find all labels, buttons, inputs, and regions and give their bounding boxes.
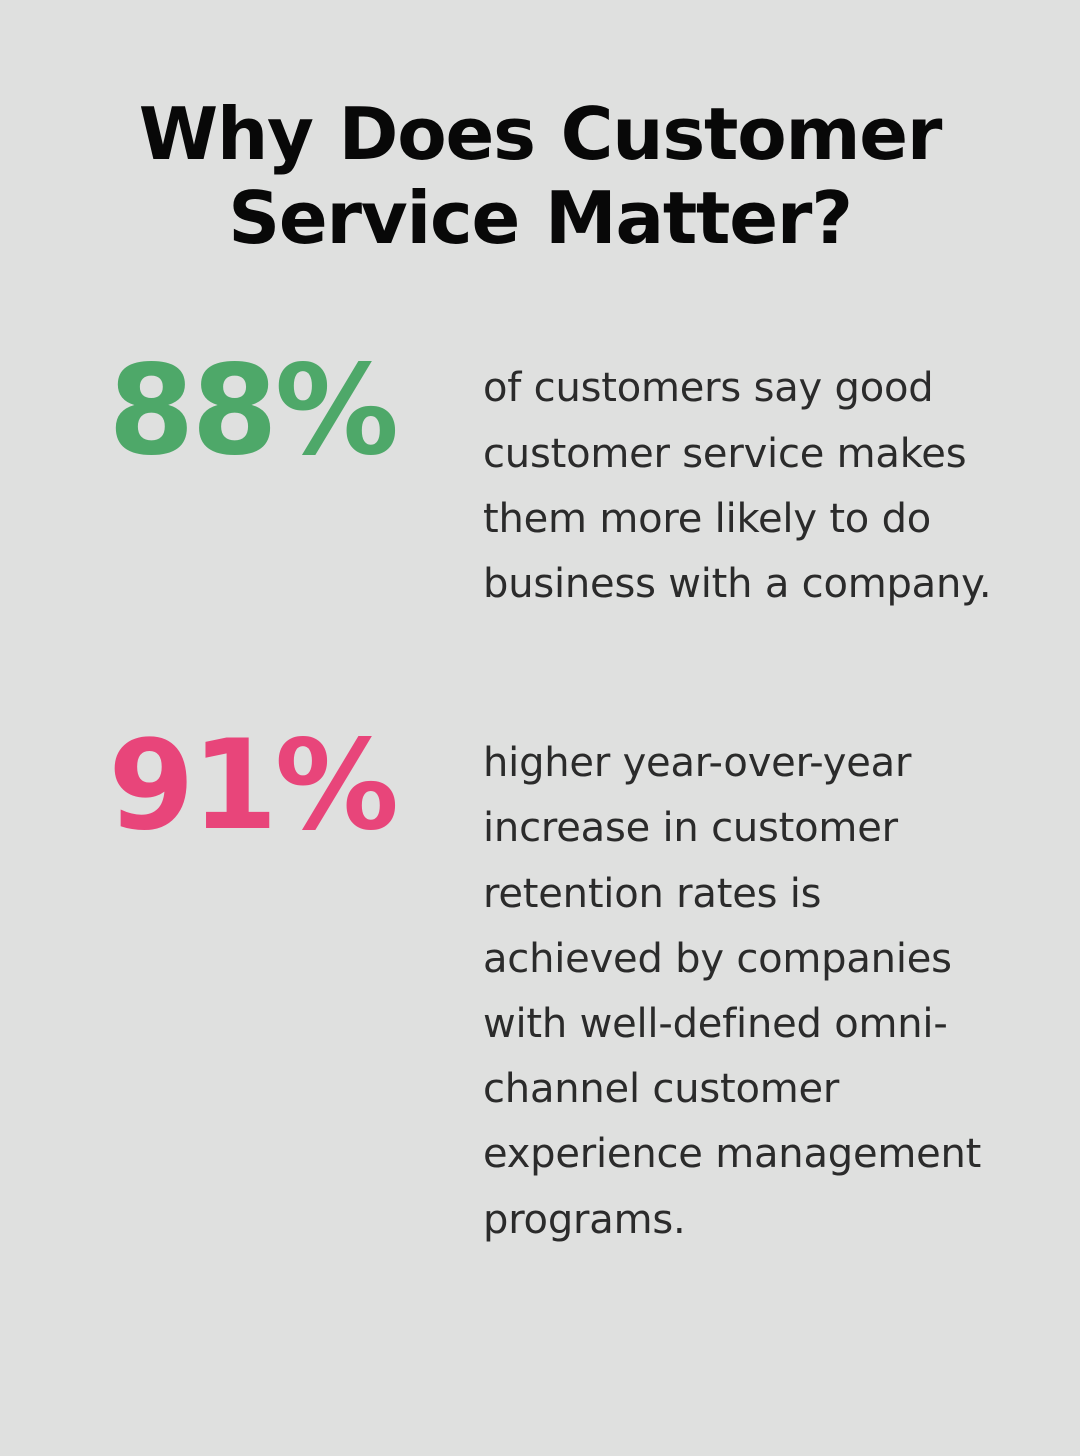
stat-figure-91-percent: 91% <box>108 723 396 851</box>
stat-figure-88-percent: 88% <box>108 348 396 476</box>
stat-text-container: of customers say good customer service m… <box>400 348 1024 617</box>
stat-row: 88% of customers say good customer servi… <box>0 348 1024 617</box>
stat-description-1: of customers say good customer service m… <box>483 356 1003 617</box>
stats-list: 88% of customers say good customer servi… <box>0 348 1080 1252</box>
stat-row: 91% higher year-over-year increase in cu… <box>0 723 1024 1253</box>
stat-figure-container: 91% <box>0 723 400 851</box>
title-block: Why Does Customer Service Matter? <box>0 0 1080 260</box>
stat-description-2: higher year-over-year increase in custom… <box>483 731 1003 1253</box>
page-title: Why Does Customer Service Matter? <box>44 92 1036 260</box>
stat-figure-container: 88% <box>0 348 400 476</box>
infographic-canvas: Why Does Customer Service Matter? 88% of… <box>0 0 1080 1456</box>
stat-text-container: higher year-over-year increase in custom… <box>400 723 1024 1253</box>
